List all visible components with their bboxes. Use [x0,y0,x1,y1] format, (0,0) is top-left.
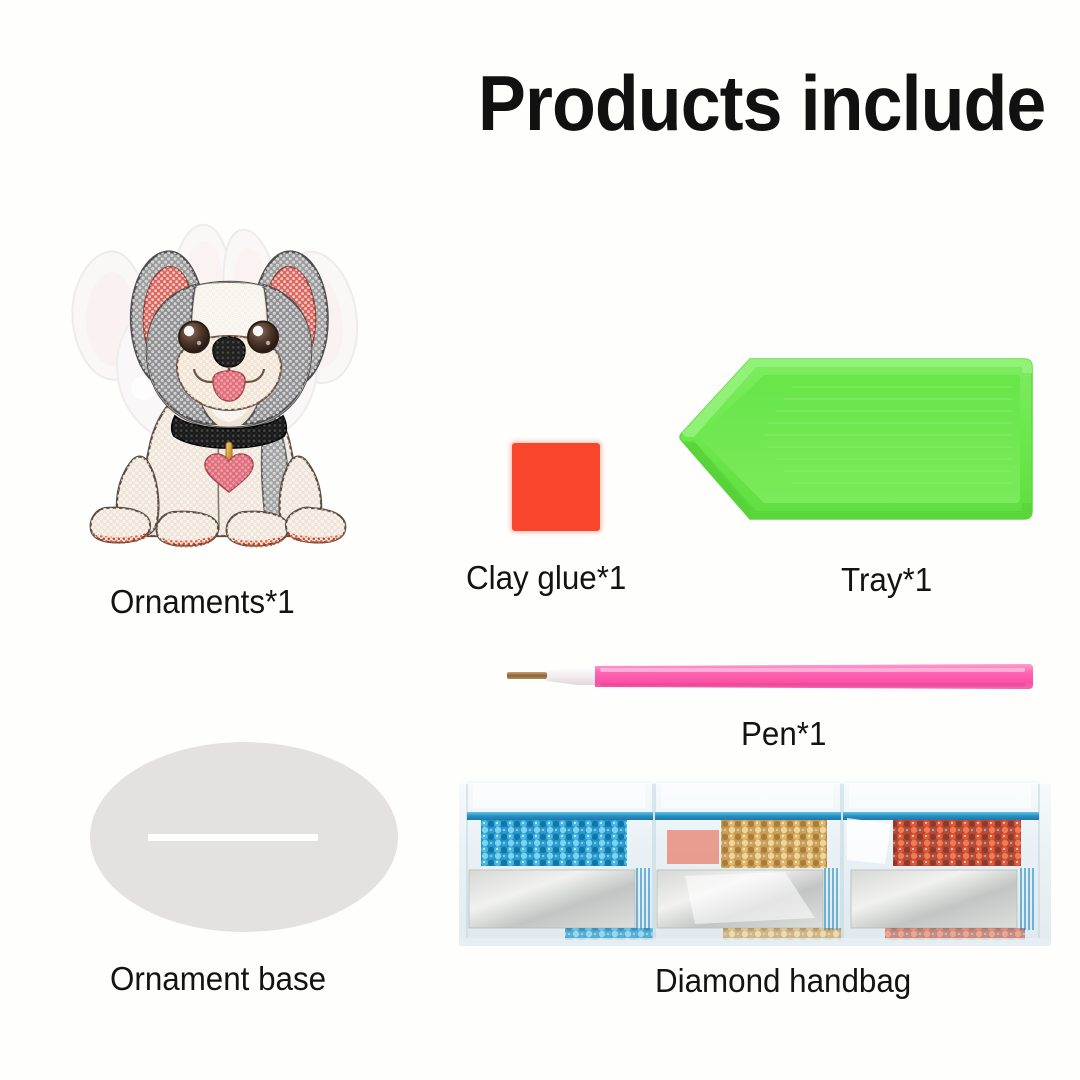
diamond-handbag-label: Diamond handbag [655,962,911,1000]
rhinestone-bag-2 [655,782,841,942]
rhinestone-bag-1 [467,782,653,942]
rhinestone-bag-3 [843,782,1039,942]
ornaments-label: Ornaments*1 [110,583,295,621]
ornaments-image [55,190,385,550]
ornament-base-label: Ornament base [110,960,326,998]
tray-label: Tray*1 [841,561,932,599]
tray-image [672,345,1040,535]
dog-nose [213,337,245,367]
dog-head [147,282,311,428]
ornament-base-slot [148,834,318,841]
ornament-base-image [90,742,398,932]
clay-glue-square [512,443,600,531]
infographic-canvas: Products include [0,0,1080,1080]
diamond-rhinestone-bags [455,768,1055,953]
clay-glue-label: Clay glue*1 [466,559,626,597]
diamond-tray [672,345,1040,535]
diamond-painting-dog-ornament [55,190,385,550]
diamond-handbag-image [455,768,1055,953]
pen-label: Pen*1 [741,715,826,753]
page-title: Products include [478,64,1045,142]
diamond-pen [505,658,1035,698]
pen-image [505,658,1035,698]
